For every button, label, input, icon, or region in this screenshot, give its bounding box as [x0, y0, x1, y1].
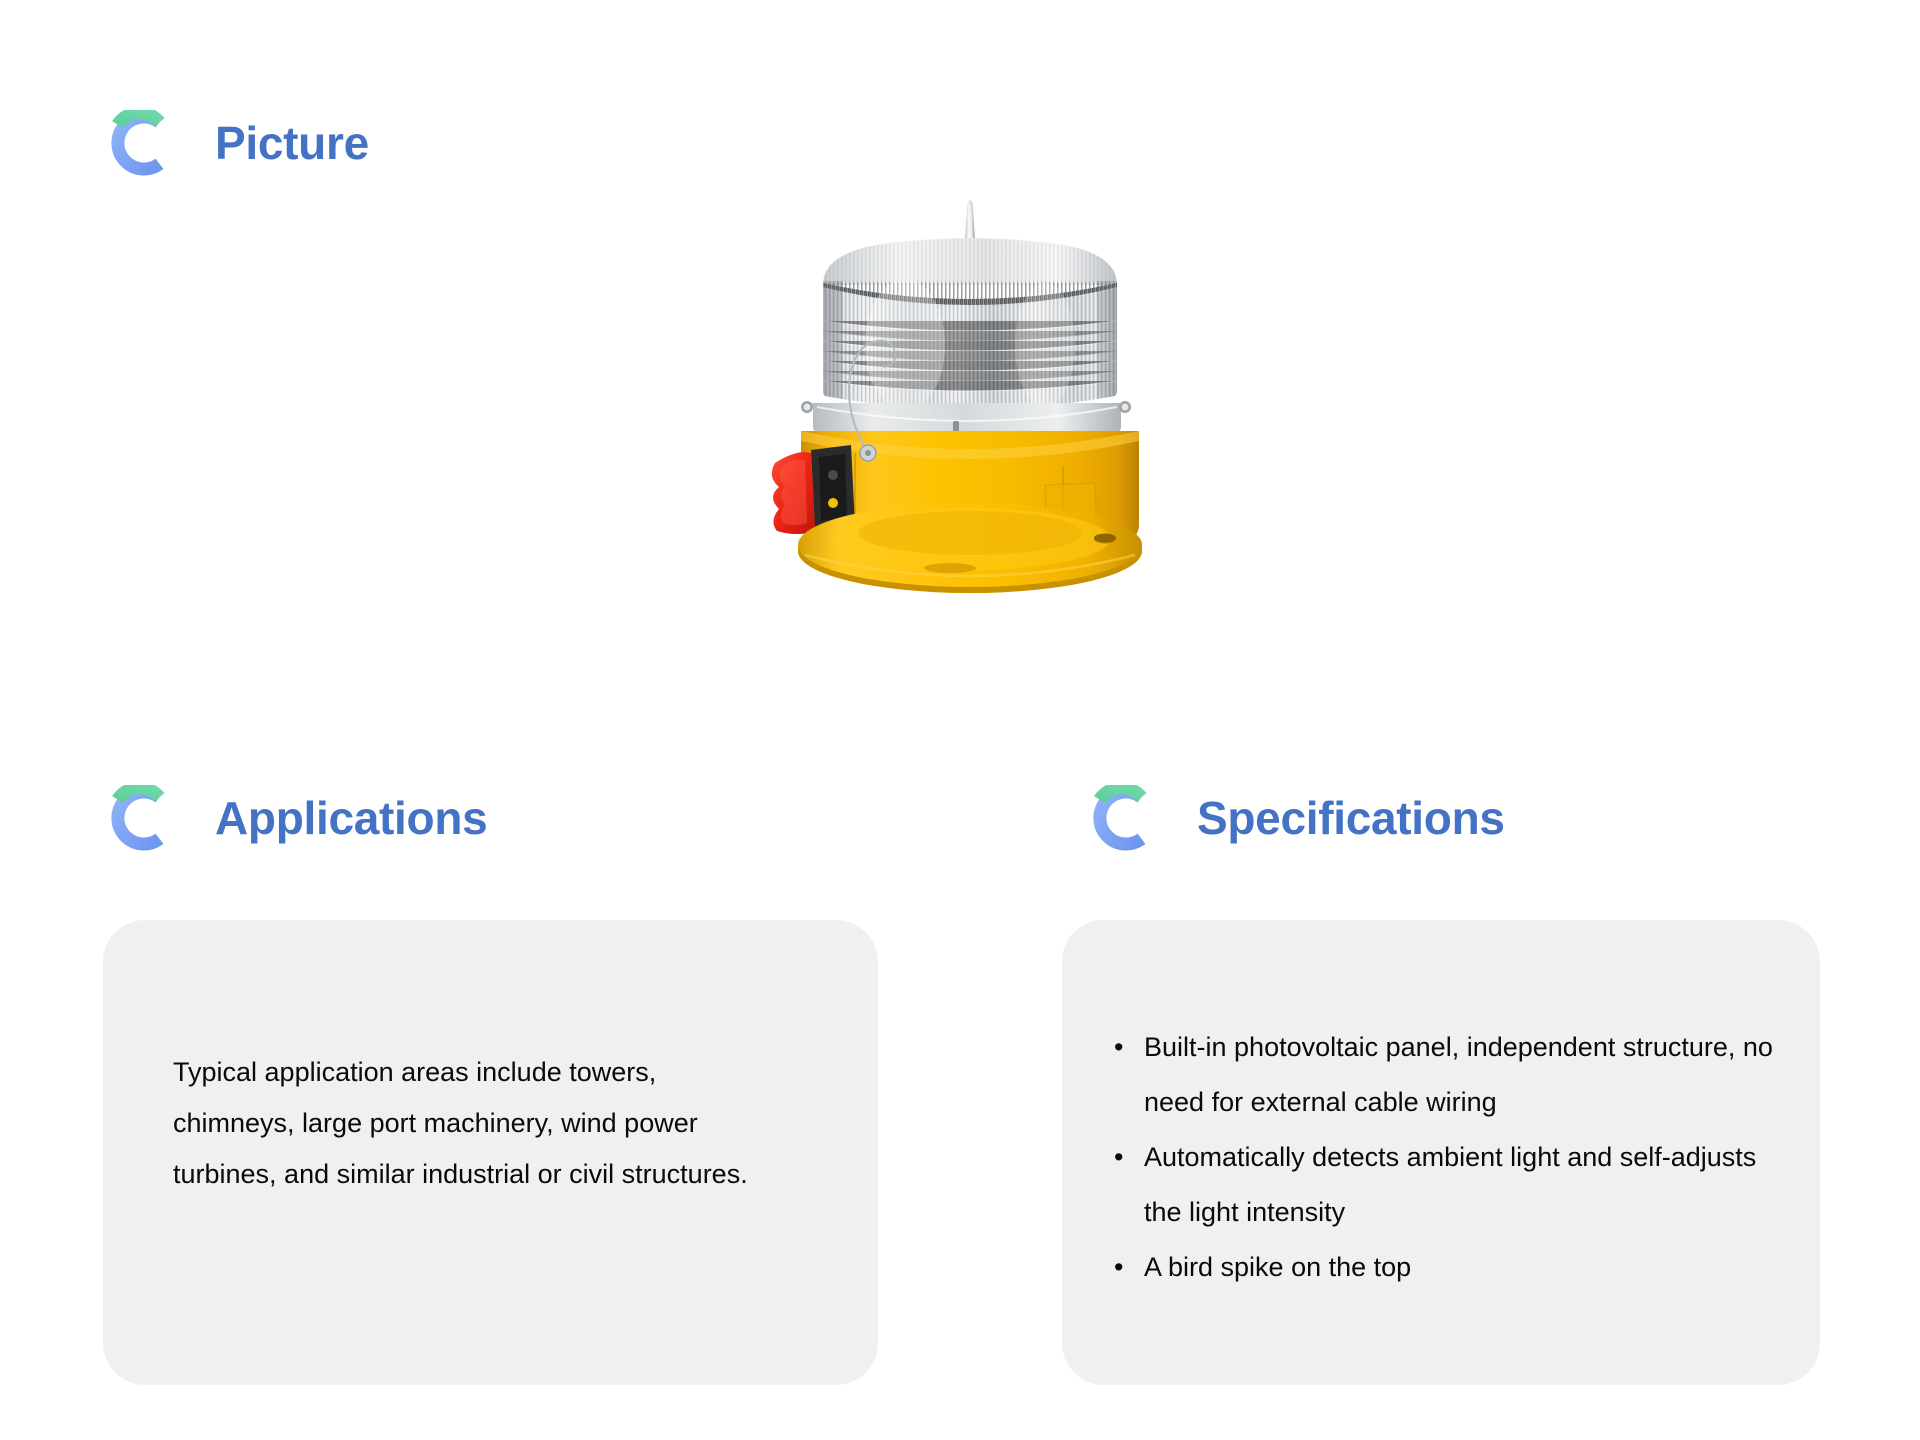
section-title-picture: Picture: [215, 116, 369, 170]
flange-slot: [924, 563, 976, 573]
specification-item: •Automatically detects ambient light and…: [1082, 1130, 1782, 1240]
specification-item-label: Automatically detects ambient light and …: [1144, 1142, 1756, 1227]
brand-c-icon: [103, 110, 169, 176]
specification-item: •Built-in photovoltaic panel, independen…: [1082, 1020, 1782, 1130]
brand-c-icon: [103, 785, 169, 851]
specification-item-label: A bird spike on the top: [1144, 1252, 1411, 1282]
bullet-icon: •: [1114, 1130, 1123, 1185]
bullet-icon: •: [1114, 1240, 1123, 1295]
section-title-specifications: Specifications: [1197, 791, 1505, 845]
section-header-picture: Picture: [103, 110, 369, 176]
specifications-card: •Built-in photovoltaic panel, independen…: [1062, 920, 1820, 1385]
specifications-list: •Built-in photovoltaic panel, independen…: [1082, 1020, 1782, 1295]
applications-body-text: Typical application areas include towers…: [173, 1047, 773, 1200]
bullet-icon: •: [1114, 1020, 1123, 1075]
brand-c-icon: [1085, 785, 1151, 851]
product-image-solar-aviation-obstruction-light: [745, 195, 1195, 625]
specification-item: •A bird spike on the top: [1082, 1240, 1782, 1295]
section-header-specifications: Specifications: [1085, 785, 1505, 851]
specification-item-label: Built-in photovoltaic panel, independent…: [1144, 1032, 1773, 1117]
applications-card: Typical application areas include towers…: [103, 920, 878, 1385]
section-title-applications: Applications: [215, 791, 487, 845]
section-header-applications: Applications: [103, 785, 487, 851]
